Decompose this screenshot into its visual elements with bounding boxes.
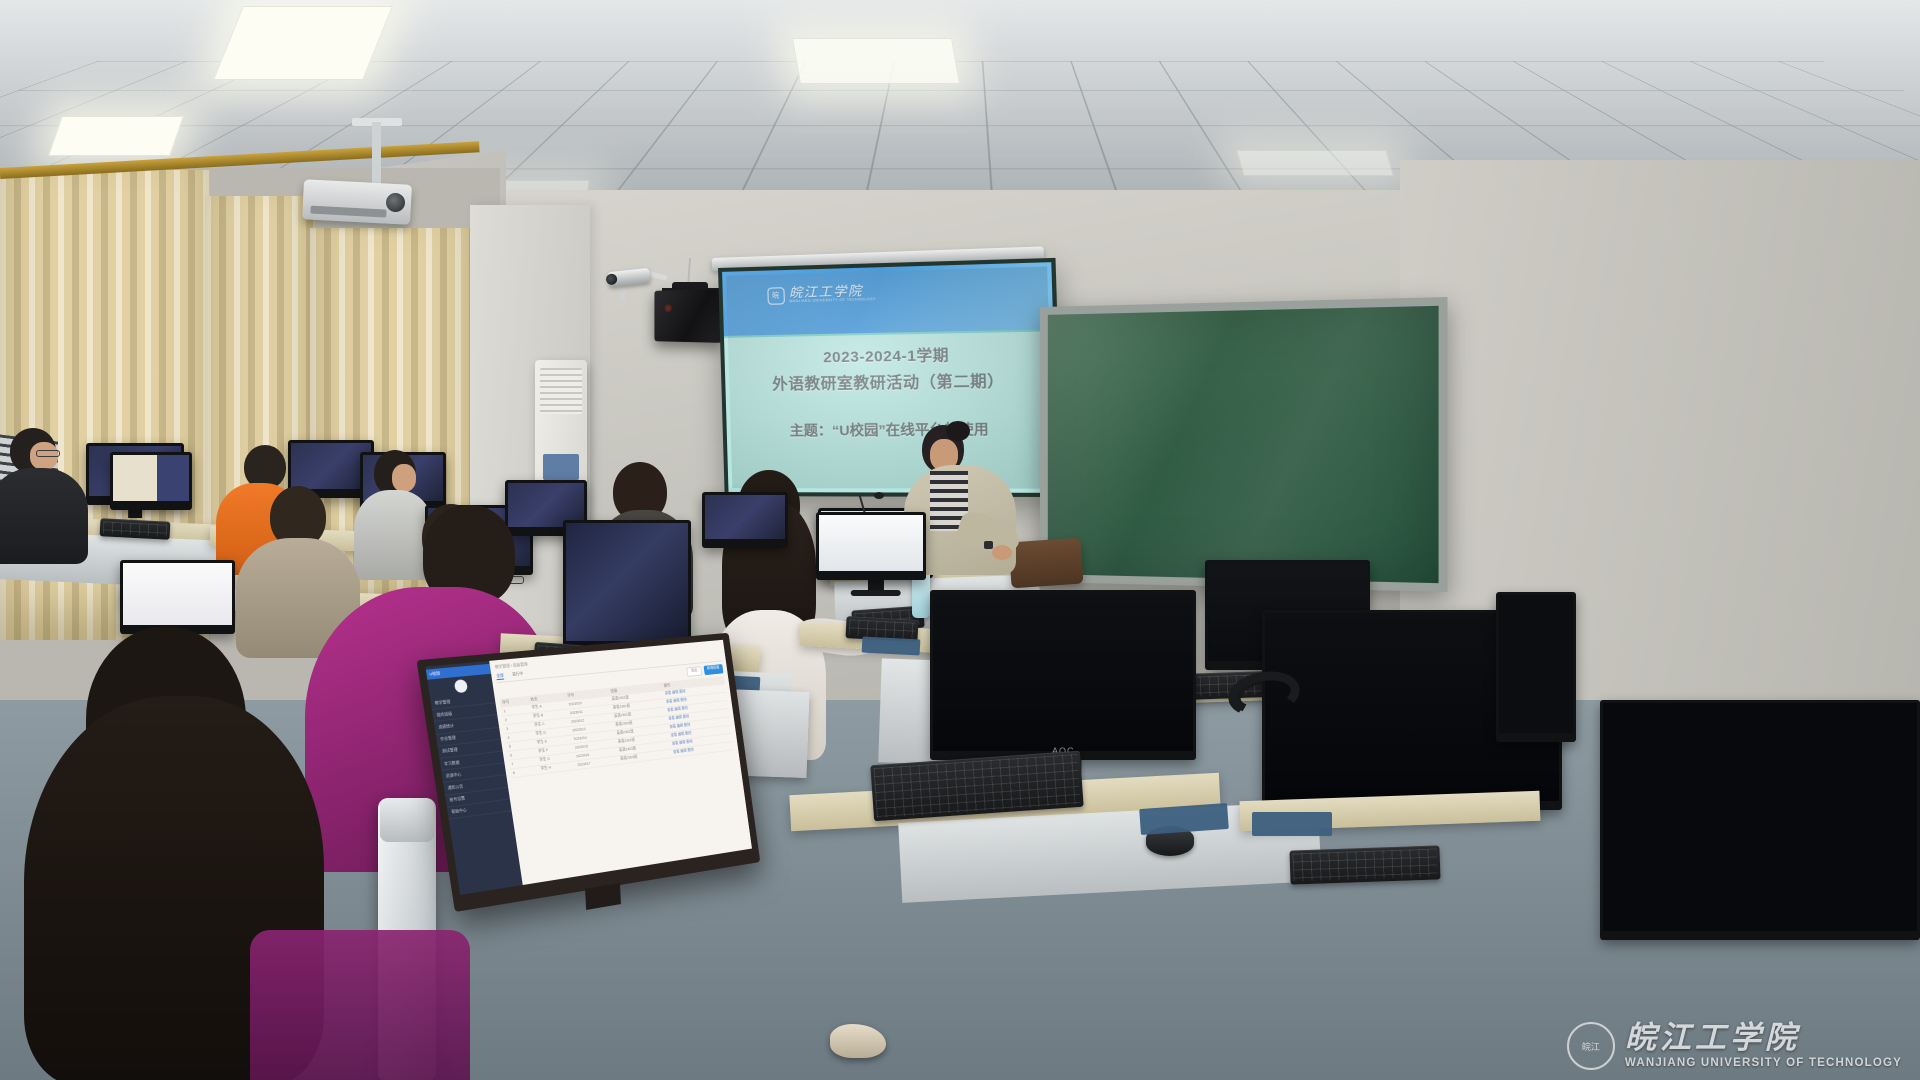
monitor-r3-a-panel: [123, 563, 232, 625]
podium-mic-head: [874, 492, 884, 499]
cctv-bracket: [620, 284, 626, 301]
university-seal-label: 皖: [772, 292, 779, 299]
monitor-center-1: [563, 520, 691, 650]
ui-brand-label: U校园: [426, 664, 491, 680]
monitor-r1-b: [110, 452, 192, 510]
ceiling-light-3: [792, 38, 960, 84]
green-chalkboard: [1040, 297, 1448, 592]
monitor-right-5: [1600, 700, 1920, 940]
ac-vent: [540, 368, 582, 414]
monitor-r3-a: [120, 560, 235, 634]
student-3-face: [392, 464, 416, 492]
slide-header-band: 皖 皖江工学院 WANJIANG UNIVERSITY OF TECHNOLOG…: [722, 262, 1053, 338]
teacher-monitor-base: [850, 590, 901, 596]
slide-activity-line: 外语教研室教研活动（第二期）: [772, 369, 1005, 395]
watermark-cn: 皖江工学院: [1625, 1023, 1800, 1054]
ceiling-light-4: [1236, 150, 1393, 176]
monitor-center-3: [702, 492, 788, 548]
slide-logo-en: WANJIANG UNIVERSITY OF TECHNOLOGY: [789, 298, 876, 304]
foreground-chair: [250, 930, 470, 1080]
watermark-en: WANJIANG UNIVERSITY OF TECHNOLOGY: [1625, 1058, 1902, 1070]
presenter-hand: [992, 545, 1012, 560]
wall-speaker: [654, 289, 721, 343]
student-1-torso: [0, 468, 88, 564]
monitor-center-2: [816, 512, 926, 580]
monitor-right-2: [930, 590, 1196, 760]
monitor-right-5-panel: [1603, 703, 1917, 931]
avatar: [454, 679, 468, 693]
mousepad-center-2: [862, 636, 921, 655]
monitor-center-3-panel: [705, 495, 785, 539]
mousepad-right-3: [1252, 812, 1332, 836]
keyboard-r1: [100, 518, 171, 540]
tab-ongoing[interactable]: 进行中: [512, 671, 524, 679]
thermos-cap: [380, 798, 434, 842]
ac-control-panel: [543, 454, 579, 480]
tab-all[interactable]: 全部: [496, 673, 504, 681]
foreground-monitor: U校园 教学管理 我的班级 成绩统计 作业管理 测试管理 学习数据 资源中心 通…: [416, 633, 760, 912]
watermark-seal-icon: 皖江: [1567, 1022, 1615, 1070]
ceiling-light-1: [213, 6, 393, 80]
presenter-hair-bun: [946, 421, 970, 441]
keyboard-right-3: [1289, 845, 1440, 884]
monitor-r1-b-panel: [113, 455, 189, 501]
export-button[interactable]: 导出: [686, 666, 702, 677]
ceiling-light-2: [48, 116, 184, 156]
watermark: 皖江 皖江工学院 WANJIANG UNIVERSITY OF TECHNOLO…: [1567, 1022, 1902, 1070]
projector: [302, 179, 412, 225]
slide-term-line: 2023-2024-1学期: [823, 344, 950, 368]
student-1: [0, 428, 92, 558]
student-1-glasses: [36, 450, 60, 457]
classroom-photo: 皖 皖江工学院 WANJIANG UNIVERSITY OF TECHNOLOG…: [0, 0, 1920, 1080]
projector-mount-pole: [372, 122, 381, 184]
monitor-right-4: [1496, 592, 1576, 742]
cell-no: 8: [510, 765, 539, 777]
university-seal-icon: 皖: [767, 287, 785, 305]
watermark-seal-label: 皖江: [1582, 1040, 1600, 1053]
monitor-center-2-panel: [819, 515, 923, 571]
slide-university-logo: 皖 皖江工学院 WANJIANG UNIVERSITY OF TECHNOLOG…: [767, 284, 876, 304]
monitor-right-2-panel: [933, 593, 1193, 751]
presenter-watch: [984, 541, 993, 549]
u-campus-admin-ui: U校园 教学管理 我的班级 成绩统计 作业管理 测试管理 学习数据 资源中心 通…: [425, 640, 752, 895]
add-class-button[interactable]: 新增班级: [703, 664, 723, 675]
ui-main-panel: 教学管理 / 班级管理 全部 进行中 导出 新增班级 序号 姓名 学号: [489, 640, 752, 885]
monitor-center-1-panel: [566, 523, 688, 641]
monitor-right-4-panel: [1499, 595, 1573, 733]
